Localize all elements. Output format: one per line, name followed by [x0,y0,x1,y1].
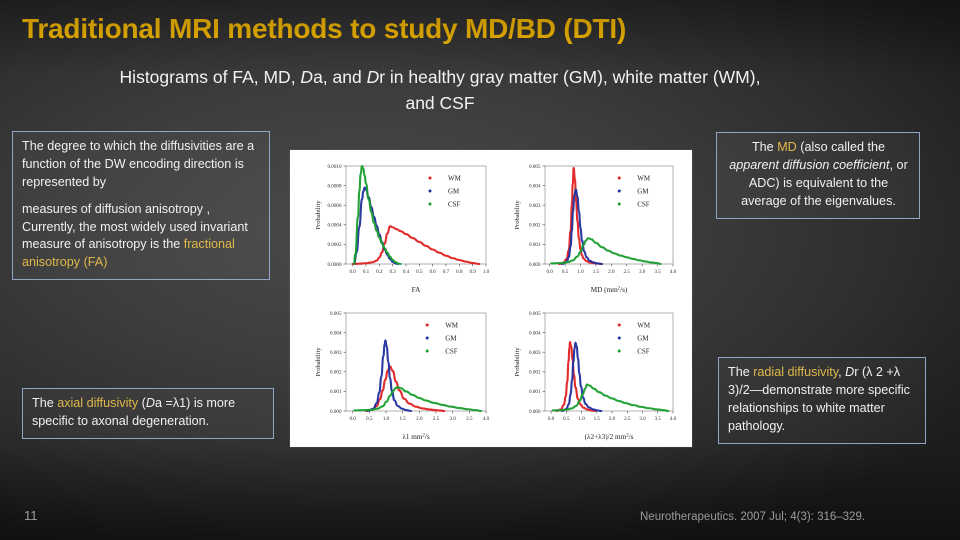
y-axis-title: Probability [514,347,521,377]
x-axis-title-tail: /s [629,433,634,441]
y-tick-label: 0.0010 [327,164,341,170]
callout-radial-italic: D [845,365,854,379]
series-wm [366,366,444,411]
x-tick-label: 0.3 [389,269,396,275]
x-tick-label: 3.5 [654,269,661,275]
legend-marker-csf [426,350,429,353]
y-tick-label: 0.0006 [327,203,341,209]
x-tick-label: 2.5 [433,416,440,422]
subtitle-italic-dr: D [367,67,380,87]
legend-label-gm: GM [637,188,649,196]
x-tick-label: 4.0 [670,416,677,422]
x-tick-label: 2.0 [608,269,615,275]
y-tick-label: 0.0002 [327,242,341,248]
callout-md-highlight: MD [777,140,797,154]
chart-panel-lambda23: 0.00.51.01.52.02.53.03.54.00.0000.0010.0… [514,311,677,441]
callout-md-b: (also called the [797,140,885,154]
x-tick-label: 3.5 [466,416,473,422]
y-tick-label: 0.001 [330,389,342,395]
y-tick-label: 0.001 [529,242,541,248]
legend-marker-csf [429,203,432,206]
legend-label-csf: CSF [637,201,650,209]
series-wm [557,342,596,411]
legend-label-wm: WM [445,322,459,330]
x-tick-label: 0.5 [416,269,423,275]
callout-md-a: The [752,140,777,154]
x-tick-label: 4.0 [670,269,677,275]
y-tick-label: 0.001 [529,389,541,395]
x-tick-label: 2.0 [609,416,616,422]
subtitle-seg-a: Histograms of FA, MD, [120,67,301,87]
plot-frame [545,166,673,264]
x-tick-label: 0.2 [376,269,383,275]
x-tick-label: 1.5 [399,416,406,422]
legend-marker-csf [618,350,621,353]
legend-marker-csf [618,203,621,206]
series-wm [353,226,480,264]
x-axis-title: MD (mm2/s) [591,286,628,294]
legend-marker-wm [429,177,432,180]
legend-label-csf: CSF [637,348,650,356]
y-tick-label: 0.005 [330,311,342,317]
legend-label-wm: WM [637,175,651,183]
x-tick-label: 3.0 [449,416,456,422]
x-tick-label: 0.4 [403,269,410,275]
y-tick-label: 0.005 [529,311,541,317]
y-tick-label: 0.004 [529,183,541,189]
callout-md-italic: apparent diffusion coefficient [729,158,889,172]
legend-marker-wm [618,324,621,327]
x-axis-title-tail: /s [425,433,430,441]
subtitle-italic-da: D [300,67,313,87]
y-axis-title: Probability [514,200,521,230]
legend-label-wm: WM [448,175,462,183]
legend-label-gm: GM [445,335,457,343]
subtitle-seg-b: a, and [313,67,367,87]
callout-axial-a: The [32,396,57,410]
y-axis-title: Probability [315,200,322,230]
page-title: Traditional MRI methods to study MD/BD (… [22,13,802,45]
legend-marker-gm [426,337,429,340]
x-axis-title-base: λ1 mm [402,433,422,441]
y-tick-label: 0.002 [529,370,541,376]
figure-histograms: 0.00.10.20.30.40.50.60.70.80.91.00.00000… [290,150,692,447]
x-tick-label: 0.9 [469,269,476,275]
y-tick-label: 0.004 [330,330,342,336]
slide-canvas: Traditional MRI methods to study MD/BD (… [0,0,960,540]
plot-frame [346,166,486,264]
callout-fa-para1: The degree to which the diffusivities ar… [22,138,261,192]
figure-svg: 0.00.10.20.30.40.50.60.70.80.91.00.00000… [290,150,692,447]
chart-panel-fa: 0.00.10.20.30.40.50.60.70.80.91.00.00000… [315,164,490,294]
callout-fa-para2: measures of diffusion anisotropy , Curre… [22,201,261,273]
legend-marker-wm [618,177,621,180]
x-tick-label: 3.5 [655,416,662,422]
y-tick-label: 0.005 [529,164,541,170]
x-axis-title-base: MD (mm [591,286,618,294]
legend-marker-wm [426,324,429,327]
x-tick-label: 1.0 [483,269,490,275]
y-tick-label: 0.0008 [327,183,341,189]
x-tick-label: 1.5 [594,416,601,422]
x-tick-label: 2.0 [416,416,423,422]
x-tick-label: 1.5 [593,269,600,275]
x-tick-label: 1.0 [578,416,585,422]
x-tick-label: 0.1 [363,269,370,275]
callout-axial-diffusivity: The axial diffusivity (Da =λ1) is more s… [22,388,274,439]
callout-radial-diffusivity: The radial diffusivity, Dr (λ 2 +λ 3)/2—… [718,357,926,444]
series-gm [368,340,411,411]
x-tick-label: 2.5 [624,416,631,422]
x-tick-label: 0.7 [443,269,450,275]
chart-panel-md: 0.00.51.01.52.02.53.03.54.00.0000.0010.0… [514,164,677,294]
subtitle-seg-c: r in healthy gray matter (GM), white [379,67,653,87]
y-tick-label: 0.002 [330,370,342,376]
y-axis-title: Probability [315,347,322,377]
y-tick-label: 0.004 [529,330,541,336]
legend-marker-gm [618,190,621,193]
y-tick-label: 0.000 [529,262,541,268]
callout-mean-diffusivity: The MD (also called the apparent diffusi… [716,132,920,219]
y-tick-label: 0.003 [529,203,541,209]
x-axis-title-tail: /s) [620,286,628,294]
x-axis-title-base: (λ2+λ3)/2 mm [585,433,627,441]
slide-number: 11 [24,508,38,523]
callout-axial-highlight: axial diffusivity [57,396,138,410]
y-tick-label: 0.0000 [327,262,341,268]
x-tick-label: 0.0 [546,269,553,275]
legend-label-csf: CSF [448,201,461,209]
y-tick-label: 0.000 [330,409,342,415]
legend-label-gm: GM [637,335,649,343]
y-tick-label: 0.000 [529,409,541,415]
x-tick-label: 2.5 [624,269,631,275]
x-tick-label: 0.0 [349,416,356,422]
callout-axial-italic: D [146,396,155,410]
legend-marker-gm [618,337,621,340]
citation-reference: Neurotherapeutics. 2007 Jul; 4(3): 316–3… [640,511,865,523]
callout-fractional-anisotropy: The degree to which the diffusivities ar… [12,131,270,280]
legend-label-gm: GM [448,188,460,196]
x-tick-label: 1.0 [577,269,584,275]
y-tick-label: 0.003 [529,350,541,356]
x-tick-label: 0.6 [429,269,436,275]
x-axis-title: λ1 mm2/s [402,433,429,441]
callout-radial-a: The [728,365,753,379]
subtitle: Histograms of FA, MD, Da, and Dr in heal… [110,64,770,117]
chart-panel-lambda1: 0.00.51.01.52.02.53.03.54.00.0000.0010.0… [315,311,490,441]
x-tick-label: 0.8 [456,269,463,275]
x-tick-label: 0.5 [366,416,373,422]
x-tick-label: 3.0 [639,416,646,422]
x-tick-label: 0.0 [548,416,555,422]
y-tick-label: 0.002 [529,223,541,229]
callout-axial-b: ( [138,396,146,410]
callout-radial-highlight: radial diffusivity [753,365,838,379]
x-tick-label: 0.5 [563,416,570,422]
x-tick-label: 3.0 [639,269,646,275]
x-axis-title: (λ2+λ3)/2 mm2/s [585,433,634,441]
legend-label-csf: CSF [445,348,458,356]
legend-marker-gm [429,190,432,193]
x-tick-label: 0.5 [562,269,569,275]
x-tick-label: 0.0 [349,269,356,275]
legend-label-wm: WM [637,322,651,330]
y-tick-label: 0.0004 [327,223,341,229]
x-tick-label: 4.0 [483,416,490,422]
x-axis-title: FA [412,286,421,294]
x-tick-label: 1.0 [383,416,390,422]
y-tick-label: 0.003 [330,350,342,356]
